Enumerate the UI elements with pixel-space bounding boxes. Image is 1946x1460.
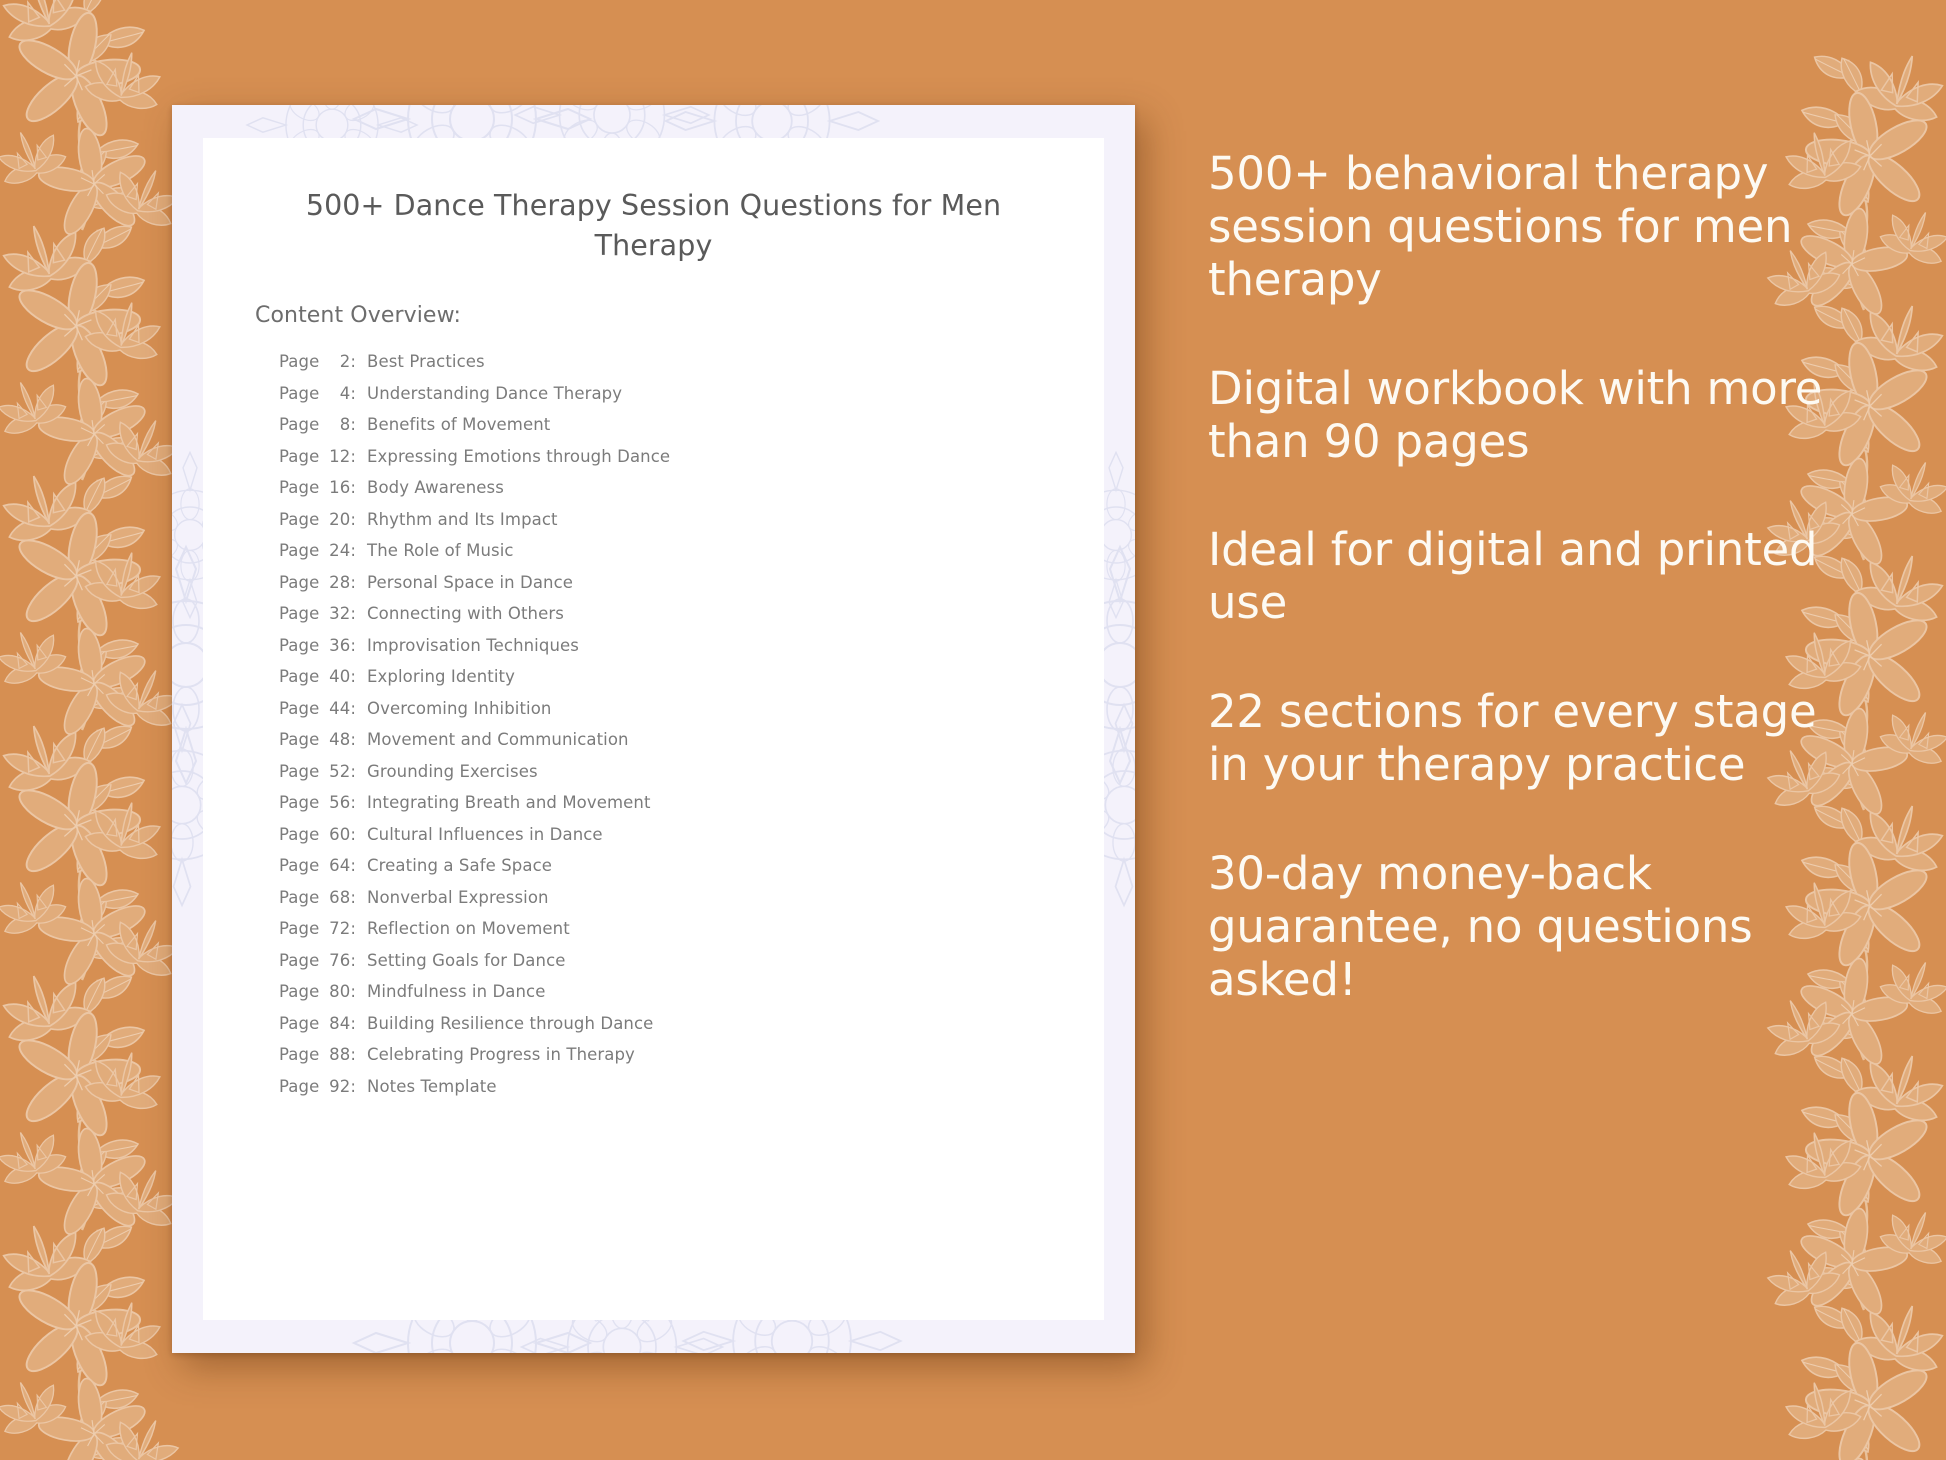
toc-page-word: Page	[279, 756, 319, 788]
toc-page-number: 68	[325, 882, 350, 914]
toc-colon: :	[350, 819, 356, 851]
content-overview-label: Content Overview:	[255, 303, 461, 328]
toc-page-word: Page	[279, 724, 319, 756]
toc-entry: Page44:Overcoming Inhibition	[279, 693, 1069, 725]
toc-entry: Page88:Celebrating Progress in Therapy	[279, 1039, 1069, 1071]
toc-colon: :	[350, 1039, 356, 1071]
toc-page-word: Page	[279, 598, 319, 630]
toc-page-number: 84	[325, 1008, 350, 1040]
toc-page-number: 24	[325, 535, 350, 567]
toc-entry-title: Building Resilience through Dance	[367, 1008, 653, 1040]
toc-page-word: Page	[279, 882, 319, 914]
toc-colon: :	[350, 441, 356, 473]
toc-entry: Page20:Rhythm and Its Impact	[279, 504, 1069, 536]
toc-entry-title: Grounding Exercises	[367, 756, 538, 788]
toc-entry-title: Expressing Emotions through Dance	[367, 441, 670, 473]
toc-colon: :	[350, 724, 356, 756]
toc-entry: Page84:Building Resilience through Dance	[279, 1008, 1069, 1040]
toc-page-number: 76	[325, 945, 350, 977]
toc-page-word: Page	[279, 567, 319, 599]
toc-entry-title: Exploring Identity	[367, 661, 515, 693]
toc-colon: :	[350, 630, 356, 662]
toc-page-word: Page	[279, 1008, 319, 1040]
toc-page-number: 72	[325, 913, 350, 945]
toc-entry: Page80:Mindfulness in Dance	[279, 976, 1069, 1008]
workbook-inner-page: 500+ Dance Therapy Session Questions for…	[203, 138, 1104, 1320]
toc-colon: :	[350, 1071, 356, 1103]
toc-page-word: Page	[279, 535, 319, 567]
toc-entry-title: Overcoming Inhibition	[367, 693, 551, 725]
toc-page-number: 88	[325, 1039, 350, 1071]
toc-page-word: Page	[279, 913, 319, 945]
toc-page-word: Page	[279, 1039, 319, 1071]
toc-page-word: Page	[279, 409, 319, 441]
toc-colon: :	[350, 346, 356, 378]
toc-colon: :	[350, 913, 356, 945]
toc-entry: Page40:Exploring Identity	[279, 661, 1069, 693]
toc-page-number: 36	[325, 630, 350, 662]
toc-page-number: 4	[325, 378, 350, 410]
toc-page-number: 40	[325, 661, 350, 693]
toc-colon: :	[350, 598, 356, 630]
toc-page-number: 32	[325, 598, 350, 630]
toc-entry-title: Body Awareness	[367, 472, 504, 504]
toc-page-number: 8	[325, 409, 350, 441]
marketing-bullet: 500+ behavioral therapy session question…	[1208, 148, 1828, 307]
toc-page-number: 20	[325, 504, 350, 536]
toc-page-number: 80	[325, 976, 350, 1008]
toc-entry-title: Mindfulness in Dance	[367, 976, 545, 1008]
toc-colon: :	[350, 945, 356, 977]
toc-page-word: Page	[279, 441, 319, 473]
toc-colon: :	[350, 504, 356, 536]
toc-entry: Page56:Integrating Breath and Movement	[279, 787, 1069, 819]
marketing-bullet: 22 sections for every stage in your ther…	[1208, 686, 1828, 792]
toc-entry-title: Connecting with Others	[367, 598, 564, 630]
toc-entry: Page60:Cultural Influences in Dance	[279, 819, 1069, 851]
page-title: 500+ Dance Therapy Session Questions for…	[263, 186, 1044, 267]
toc-entry-title: Reflection on Movement	[367, 913, 570, 945]
toc-entry-title: Movement and Communication	[367, 724, 629, 756]
toc-page-word: Page	[279, 661, 319, 693]
toc-entry-title: Understanding Dance Therapy	[367, 378, 622, 410]
toc-entry: Page12:Expressing Emotions through Dance	[279, 441, 1069, 473]
toc-page-number: 60	[325, 819, 350, 851]
toc-colon: :	[350, 1008, 356, 1040]
toc-entry: Page32:Connecting with Others	[279, 598, 1069, 630]
toc-page-word: Page	[279, 819, 319, 851]
toc-colon: :	[350, 535, 356, 567]
toc-colon: :	[350, 409, 356, 441]
toc-entry: Page8:Benefits of Movement	[279, 409, 1069, 441]
toc-colon: :	[350, 850, 356, 882]
toc-page-word: Page	[279, 850, 319, 882]
toc-colon: :	[350, 378, 356, 410]
toc-colon: :	[350, 756, 356, 788]
toc-entry-title: Best Practices	[367, 346, 485, 378]
marketing-bullet: Ideal for digital and printed use	[1208, 524, 1828, 630]
toc-entry-title: Personal Space in Dance	[367, 567, 573, 599]
table-of-contents: Page2:Best PracticesPage4:Understanding …	[279, 346, 1069, 1102]
toc-entry-title: Rhythm and Its Impact	[367, 504, 558, 536]
toc-entry: Page72:Reflection on Movement	[279, 913, 1069, 945]
toc-entry: Page36:Improvisation Techniques	[279, 630, 1069, 662]
marketing-bullet: 30-day money-back guarantee, no question…	[1208, 848, 1828, 1007]
toc-entry: Page92:Notes Template	[279, 1071, 1069, 1103]
toc-page-number: 52	[325, 756, 350, 788]
toc-page-word: Page	[279, 504, 319, 536]
toc-colon: :	[350, 693, 356, 725]
toc-page-word: Page	[279, 378, 319, 410]
toc-page-number: 64	[325, 850, 350, 882]
toc-entry-title: Notes Template	[367, 1071, 497, 1103]
toc-entry: Page48:Movement and Communication	[279, 724, 1069, 756]
toc-colon: :	[350, 661, 356, 693]
toc-page-word: Page	[279, 1071, 319, 1103]
toc-entry: Page76:Setting Goals for Dance	[279, 945, 1069, 977]
marketing-bullet-list: 500+ behavioral therapy session question…	[1208, 148, 1828, 1007]
toc-entry: Page16:Body Awareness	[279, 472, 1069, 504]
workbook-page-mockup: 500+ Dance Therapy Session Questions for…	[172, 105, 1135, 1353]
toc-page-word: Page	[279, 693, 319, 725]
toc-entry: Page4:Understanding Dance Therapy	[279, 378, 1069, 410]
toc-colon: :	[350, 567, 356, 599]
toc-entry: Page28:Personal Space in Dance	[279, 567, 1069, 599]
toc-page-word: Page	[279, 472, 319, 504]
toc-entry-title: Improvisation Techniques	[367, 630, 579, 662]
toc-page-word: Page	[279, 787, 319, 819]
toc-entry-title: Nonverbal Expression	[367, 882, 549, 914]
toc-page-number: 44	[325, 693, 350, 725]
toc-page-number: 92	[325, 1071, 350, 1103]
toc-entry: Page24:The Role of Music	[279, 535, 1069, 567]
toc-page-word: Page	[279, 976, 319, 1008]
toc-colon: :	[350, 976, 356, 1008]
toc-page-number: 12	[325, 441, 350, 473]
toc-page-word: Page	[279, 346, 319, 378]
toc-colon: :	[350, 787, 356, 819]
toc-entry-title: Celebrating Progress in Therapy	[367, 1039, 635, 1071]
toc-entry-title: Integrating Breath and Movement	[367, 787, 651, 819]
toc-entry-title: The Role of Music	[367, 535, 514, 567]
toc-entry-title: Creating a Safe Space	[367, 850, 552, 882]
toc-page-word: Page	[279, 630, 319, 662]
toc-entry-title: Setting Goals for Dance	[367, 945, 565, 977]
toc-page-number: 56	[325, 787, 350, 819]
toc-entry: Page52:Grounding Exercises	[279, 756, 1069, 788]
toc-entry-title: Cultural Influences in Dance	[367, 819, 603, 851]
toc-entry: Page2:Best Practices	[279, 346, 1069, 378]
toc-page-number: 16	[325, 472, 350, 504]
marketing-bullet: Digital workbook with more than 90 pages	[1208, 363, 1828, 469]
toc-colon: :	[350, 882, 356, 914]
toc-colon: :	[350, 472, 356, 504]
toc-entry-title: Benefits of Movement	[367, 409, 550, 441]
toc-page-number: 28	[325, 567, 350, 599]
listing-canvas: 500+ Dance Therapy Session Questions for…	[0, 0, 1946, 1460]
toc-page-word: Page	[279, 945, 319, 977]
toc-entry: Page64:Creating a Safe Space	[279, 850, 1069, 882]
toc-page-number: 48	[325, 724, 350, 756]
toc-page-number: 2	[325, 346, 350, 378]
toc-entry: Page68:Nonverbal Expression	[279, 882, 1069, 914]
